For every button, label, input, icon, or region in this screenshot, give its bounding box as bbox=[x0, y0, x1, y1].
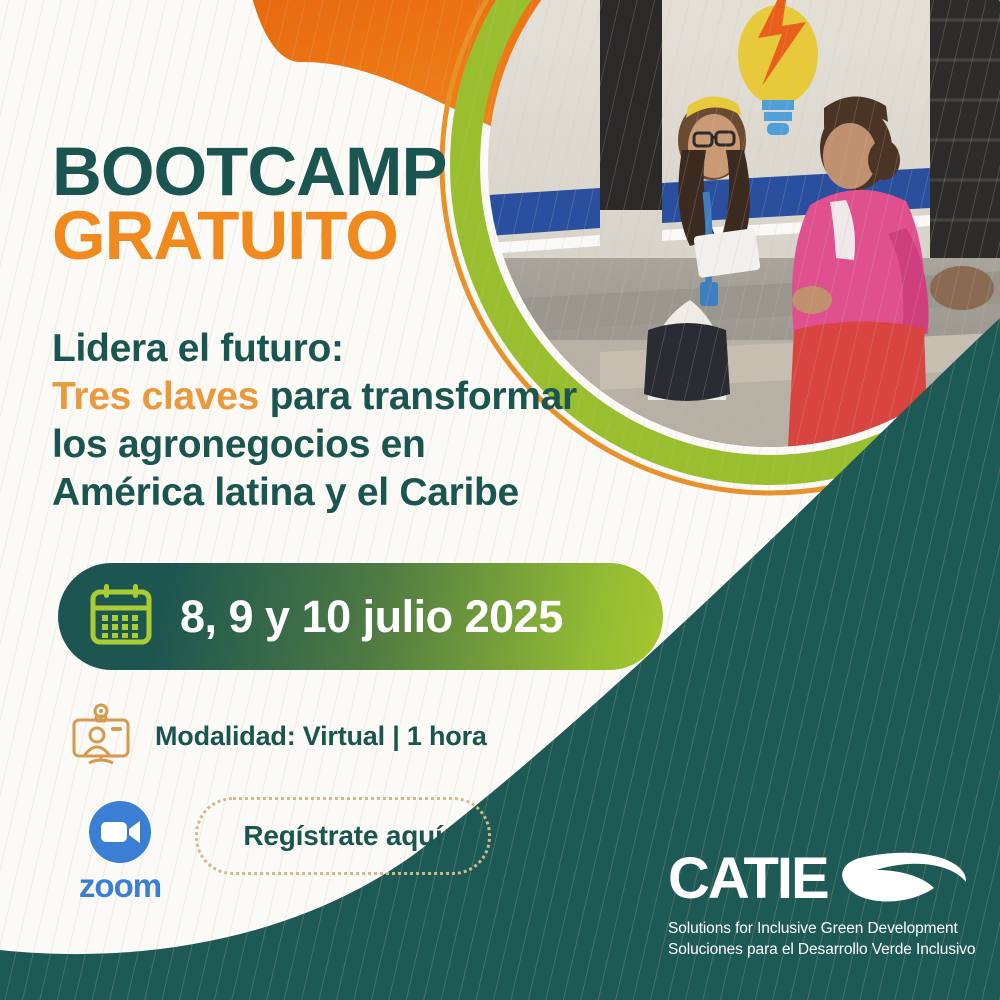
zoom-logo: zoom bbox=[68, 800, 172, 905]
modality-row: Modalidad: Virtual | 1 hora bbox=[70, 703, 487, 770]
headline: BOOTCAMP GRATUITO bbox=[52, 140, 446, 268]
catie-leaf-swoosh-icon bbox=[842, 853, 966, 902]
webinar-monitor-icon bbox=[70, 703, 132, 770]
catie-wordmark-graphic: CATIE bbox=[668, 848, 968, 910]
catie-logo: CATIE Solutions for Inclusive Green Deve… bbox=[668, 848, 968, 960]
promotional-poster: BOOTCAMP GRATUITO Lidera el futuro: Tres… bbox=[0, 0, 1000, 1000]
headline-line-2: GRATUITO bbox=[52, 204, 446, 268]
register-button-label: Regístrate aquí bbox=[243, 820, 442, 852]
subtitle-line-1: Lidera el futuro: bbox=[52, 325, 577, 373]
zoom-wordmark: zoom bbox=[68, 867, 172, 905]
headline-line-1: BOOTCAMP bbox=[52, 140, 446, 204]
catie-tagline-en: Solutions for Inclusive Green Developmen… bbox=[668, 919, 968, 940]
catie-tagline-es: Soluciones para el Desarrollo Verde Incl… bbox=[668, 940, 968, 961]
date-pill: 8, 9 y 10 julio 2025 bbox=[58, 563, 663, 670]
zoom-camera-icon bbox=[88, 851, 152, 868]
subtitle-line-4: América latina y el Caribe bbox=[52, 469, 577, 517]
register-button[interactable]: Regístrate aquí bbox=[195, 797, 491, 875]
subtitle: Lidera el futuro: Tres claves para trans… bbox=[52, 325, 577, 517]
subtitle-highlight: Tres claves bbox=[52, 375, 259, 418]
catie-wordmark-text: CATIE bbox=[668, 848, 828, 910]
modality-label: Modalidad: Virtual | 1 hora bbox=[155, 721, 487, 752]
date-text: 8, 9 y 10 julio 2025 bbox=[180, 591, 563, 643]
subtitle-line-2: Tres claves para transformar bbox=[52, 373, 577, 421]
catie-tagline: Solutions for Inclusive Green Developmen… bbox=[668, 919, 968, 960]
subtitle-line-3: los agronegocios en bbox=[52, 421, 577, 469]
calendar-icon bbox=[88, 581, 154, 652]
subtitle-line-2-rest: para transformar bbox=[259, 375, 577, 418]
